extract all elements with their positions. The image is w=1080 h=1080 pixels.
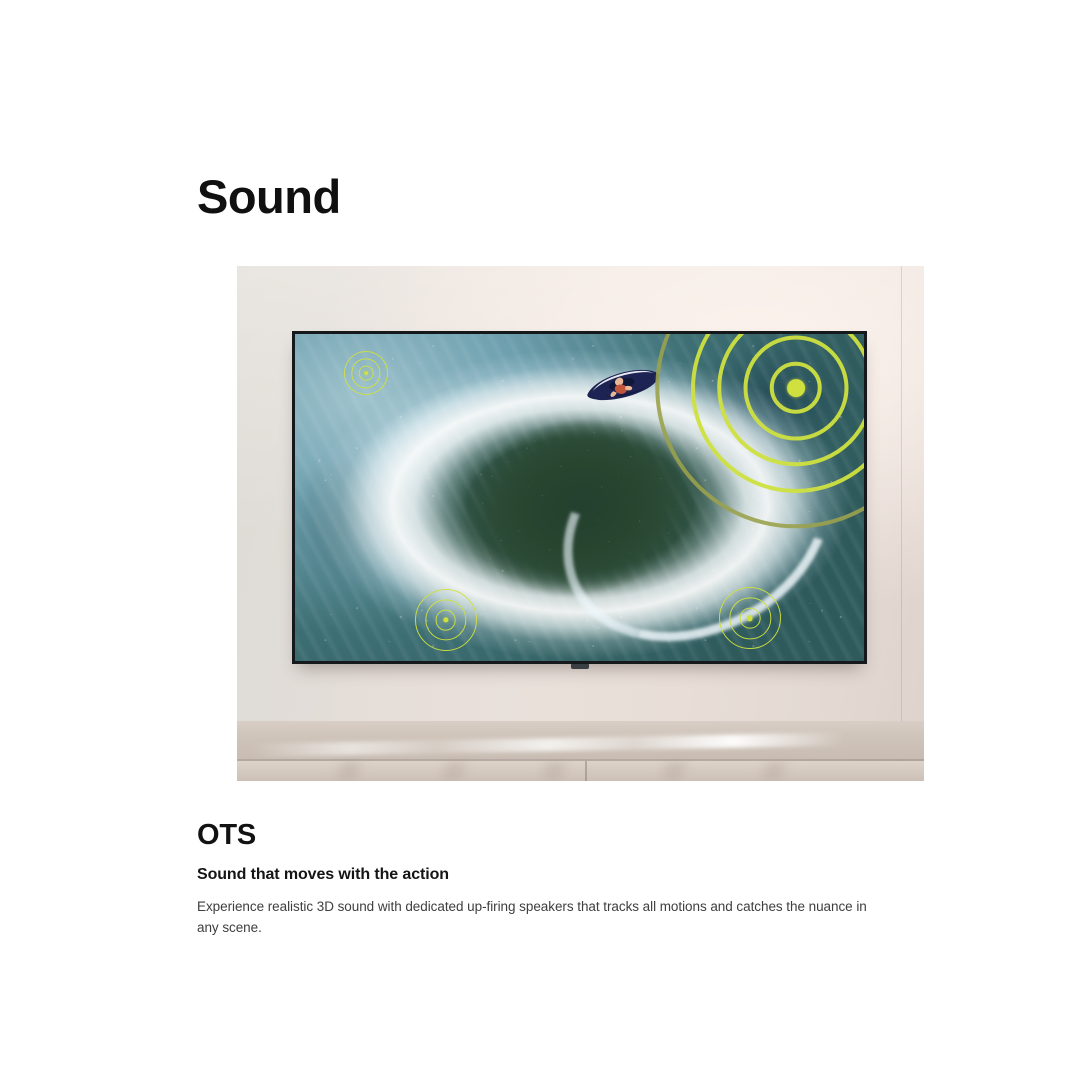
console-light-streak [435, 761, 474, 781]
feature-description: Experience realistic 3D sound with dedic… [197, 896, 887, 940]
hero-image [237, 266, 924, 781]
feature-title: OTS [197, 819, 256, 852]
console-light-streak [330, 761, 369, 781]
tv-screen [295, 334, 864, 661]
television [292, 331, 867, 664]
console-top-surface [237, 721, 924, 759]
console-furniture [237, 721, 924, 781]
tv-mount-nub [571, 664, 589, 669]
wall-seam [901, 266, 902, 781]
console-light-streak [535, 761, 574, 781]
console-drawer-seam [585, 761, 587, 781]
console-light-streak [755, 761, 794, 781]
feature-tagline: Sound that moves with the action [197, 865, 449, 886]
page-root: Sound [0, 0, 1080, 1080]
console-light-streak [655, 761, 694, 781]
page-title: Sound [197, 171, 341, 223]
console-top-reflection [251, 733, 869, 758]
